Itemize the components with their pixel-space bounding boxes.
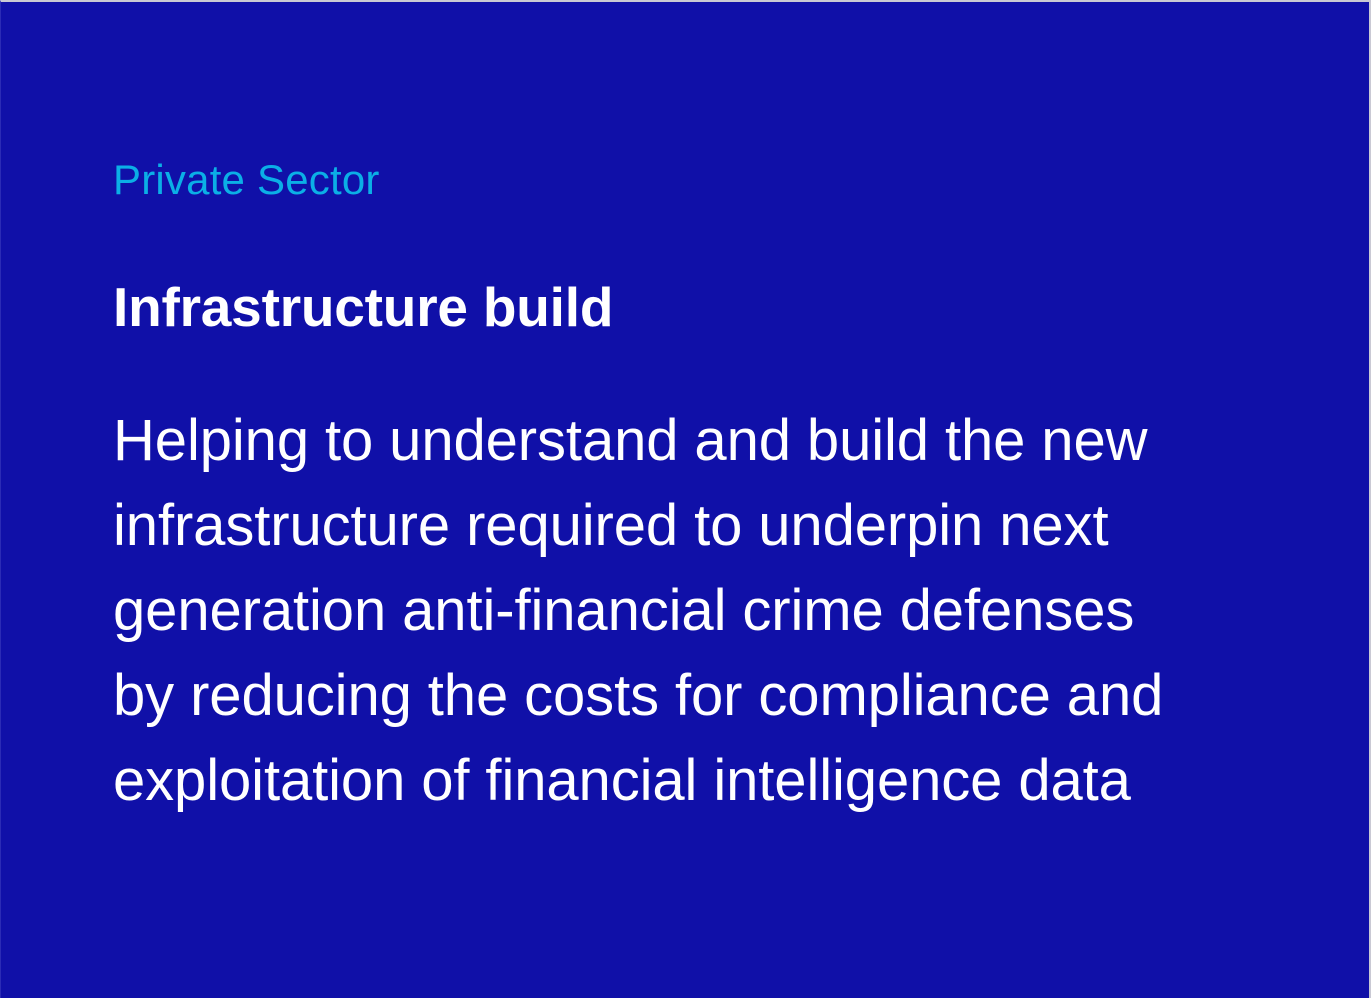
card-body-text: Helping to understand and build the new …: [113, 398, 1243, 823]
private-sector-card: Private Sector Infrastructure build Help…: [0, 0, 1371, 998]
card-eyebrow-label: Private Sector: [113, 154, 380, 206]
body-text-line: exploitation of financial intelligence d…: [113, 738, 1243, 823]
body-text-line: Helping to understand and build the new: [113, 398, 1243, 483]
body-text-line: generation anti-financial crime defenses: [113, 568, 1243, 653]
card-heading: Infrastructure build: [113, 274, 613, 340]
body-text-line: by reducing the costs for compliance and: [113, 653, 1243, 738]
body-text-line: infrastructure required to underpin next: [113, 483, 1243, 568]
